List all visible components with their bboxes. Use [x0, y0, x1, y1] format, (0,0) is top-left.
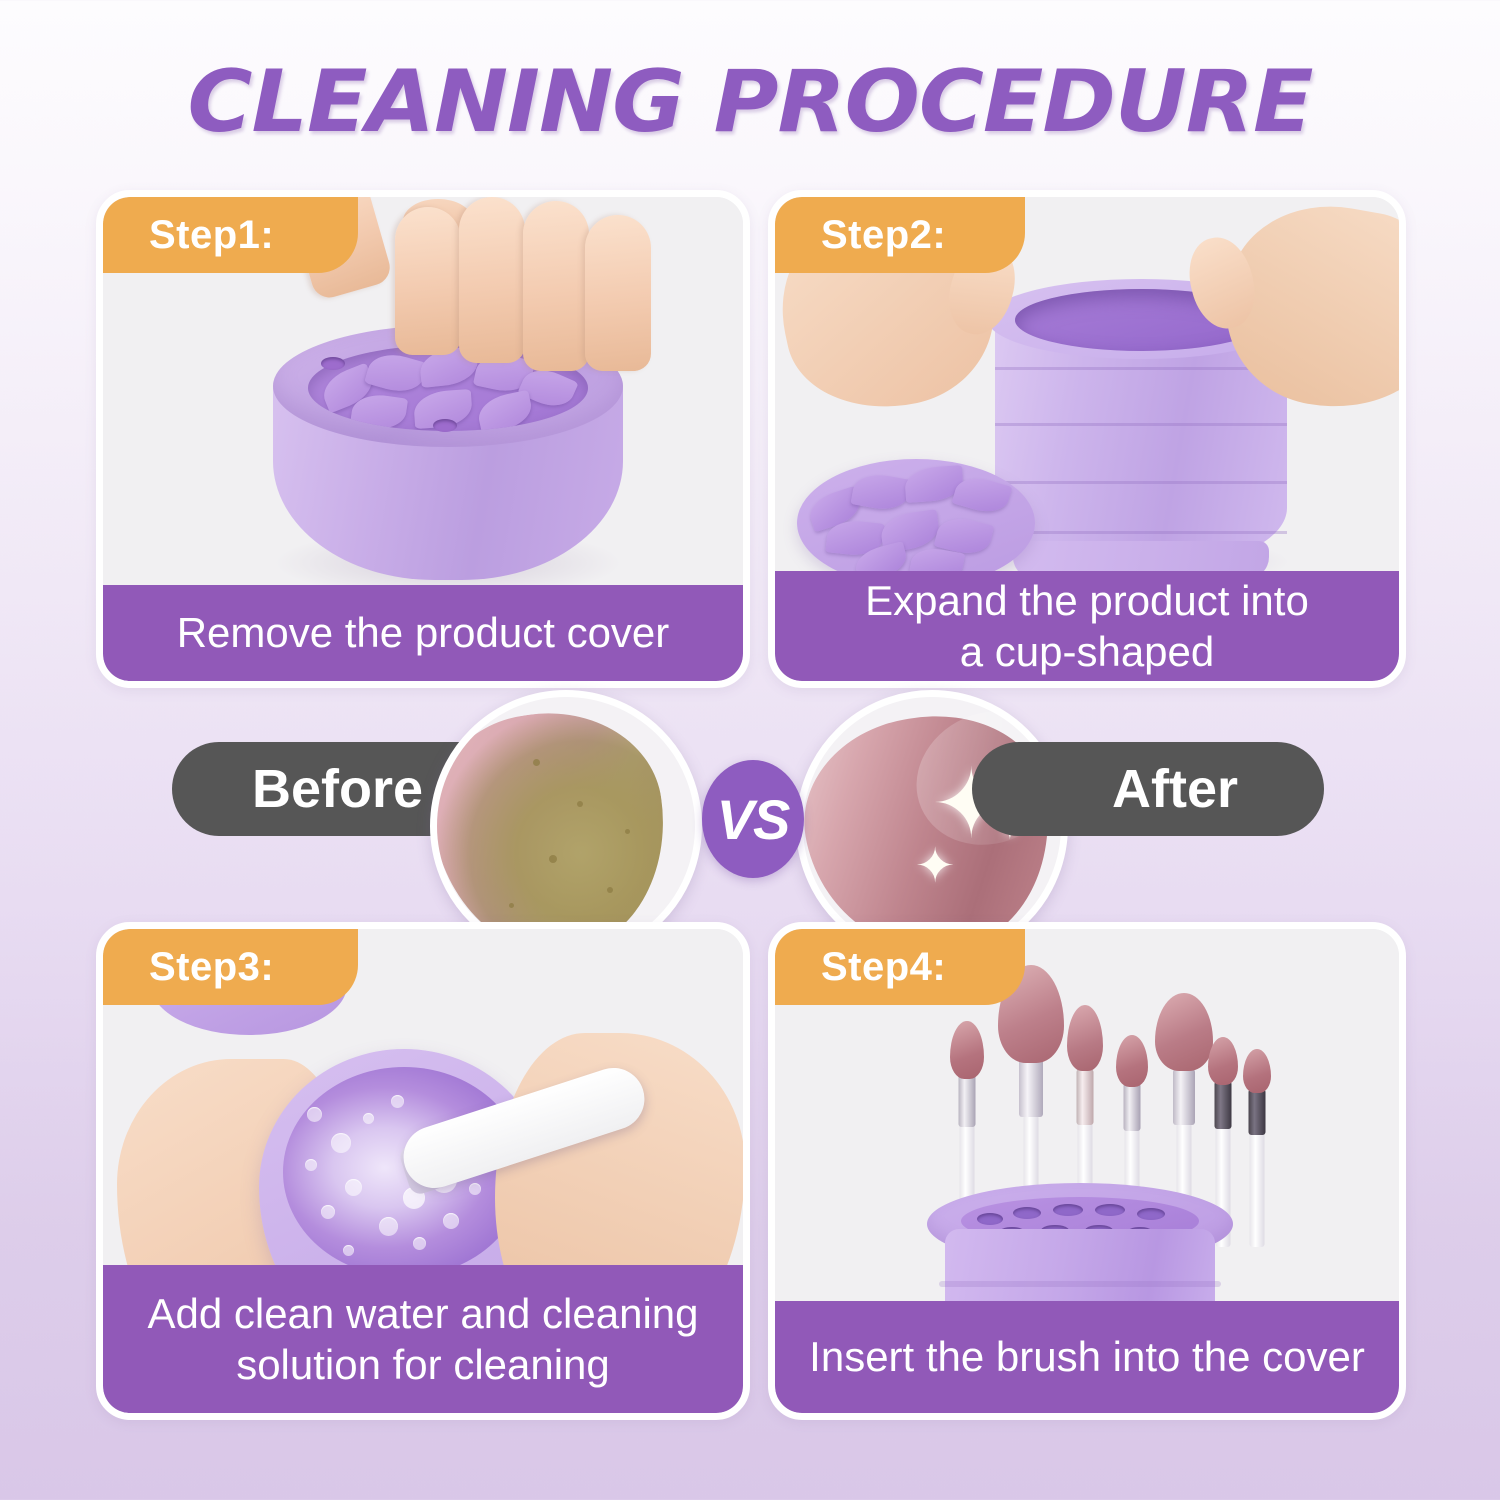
- before-after-comparison: Before ✦ ✦ ✦ VS After: [0, 690, 1500, 922]
- hand-finger-2: [459, 197, 525, 363]
- step-card-2: Step2: Expand the product into a cup-sha…: [768, 190, 1406, 688]
- step-4-badge: Step4:: [775, 929, 1025, 1005]
- cup-cover-with-floral-pattern: [797, 459, 1035, 587]
- vs-badge: VS: [702, 760, 804, 878]
- after-label-pill: After: [972, 742, 1324, 836]
- step-2-caption-line-2: a cup-shaped: [865, 626, 1309, 677]
- vs-label: VS: [717, 787, 790, 852]
- makeup-brush-7: [1237, 1079, 1277, 1247]
- step-3-caption-line-2: solution for cleaning: [147, 1339, 698, 1390]
- step-3-badge: Step3:: [103, 929, 358, 1005]
- step-3-caption-line-1: Add clean water and cleaning: [147, 1288, 698, 1339]
- step-2-badge: Step2:: [775, 197, 1025, 273]
- step-card-1: Step1: Remove the product cover: [96, 190, 750, 688]
- page-title-wrapper: CLEANING PROCEDURE: [0, 52, 1500, 152]
- after-label: After: [1112, 758, 1238, 820]
- hand-finger-1: [395, 207, 461, 355]
- step-2-caption-line-1: Expand the product into: [865, 575, 1309, 626]
- step-1-caption: Remove the product cover: [103, 585, 743, 681]
- step-card-3: Step3: Add clean water and cleaning solu…: [96, 922, 750, 1420]
- step-1-badge: Step1:: [103, 197, 358, 273]
- holder-ridge-1: [939, 1281, 1221, 1287]
- cover-drain-hole-left: [321, 357, 345, 370]
- page-title: CLEANING PROCEDURE: [0, 52, 1500, 152]
- step-3-caption: Add clean water and cleaning solution fo…: [103, 1265, 743, 1413]
- step-card-4: Step4: Insert the brush into the cover: [768, 922, 1406, 1420]
- cover-drain-hole-bottom: [433, 419, 457, 432]
- step-4-caption: Insert the brush into the cover: [775, 1301, 1399, 1413]
- step-2-caption: Expand the product into a cup-shaped: [775, 571, 1399, 681]
- sparkle-icon-medium: ✦: [915, 843, 955, 891]
- before-label: Before: [252, 758, 423, 820]
- hand-finger-3: [523, 201, 589, 371]
- hand-finger-4: [585, 215, 651, 371]
